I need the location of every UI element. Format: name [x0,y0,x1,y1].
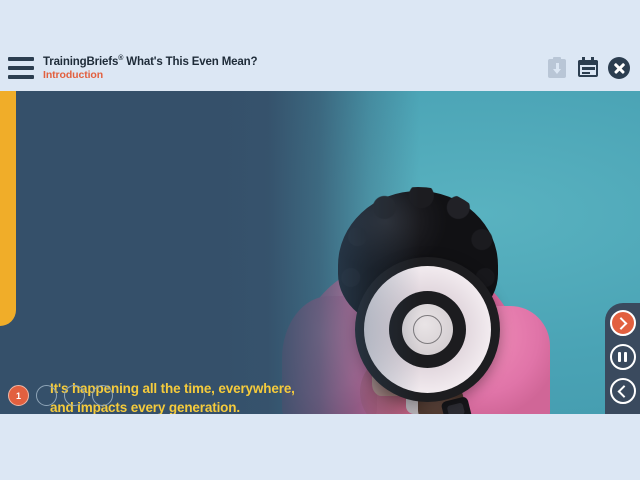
player-header: TrainingBriefs® What's This Even Mean? I… [0,45,640,91]
course-title: TrainingBriefs® What's This Even Mean? [43,55,546,69]
pagination-dot-3[interactable] [64,385,85,406]
pause-button[interactable] [610,344,636,370]
menu-bar-1 [8,57,34,61]
next-button[interactable] [610,310,636,336]
notes-header-bar [578,60,598,65]
header-actions [546,57,640,79]
accent-bar [0,91,16,326]
back-button[interactable] [610,378,636,404]
notes-line-1 [582,67,595,70]
menu-bar-2 [8,66,34,70]
pagination-dot-4[interactable] [92,385,113,406]
pagination: 1 [8,385,113,406]
hamburger-menu-icon[interactable] [8,57,34,79]
notes-line-2 [582,72,590,75]
notes-icon[interactable] [577,57,599,79]
course-title-brand: TrainingBriefs [43,56,118,68]
resources-download-icon[interactable] [546,57,568,79]
menu-bar-3 [8,75,34,79]
slide-text-overlay [0,91,420,414]
chevron-left-icon [618,385,631,398]
pagination-dot-2[interactable] [36,385,57,406]
download-arrow-head [553,69,561,74]
playback-control-rail [605,303,640,414]
title-block: TrainingBriefs® What's This Even Mean? I… [43,54,546,82]
pause-icon-bar-1 [618,352,621,362]
pagination-dot-1[interactable]: 1 [8,385,29,406]
slide-stage: It's happening all the time, everywhere,… [0,91,640,414]
close-icon[interactable] [608,57,630,79]
pause-icon-bar-2 [624,352,627,362]
lesson-subtitle: Introduction [43,70,546,82]
chevron-right-icon [615,317,628,330]
course-title-rest: What's This Even Mean? [123,56,257,68]
